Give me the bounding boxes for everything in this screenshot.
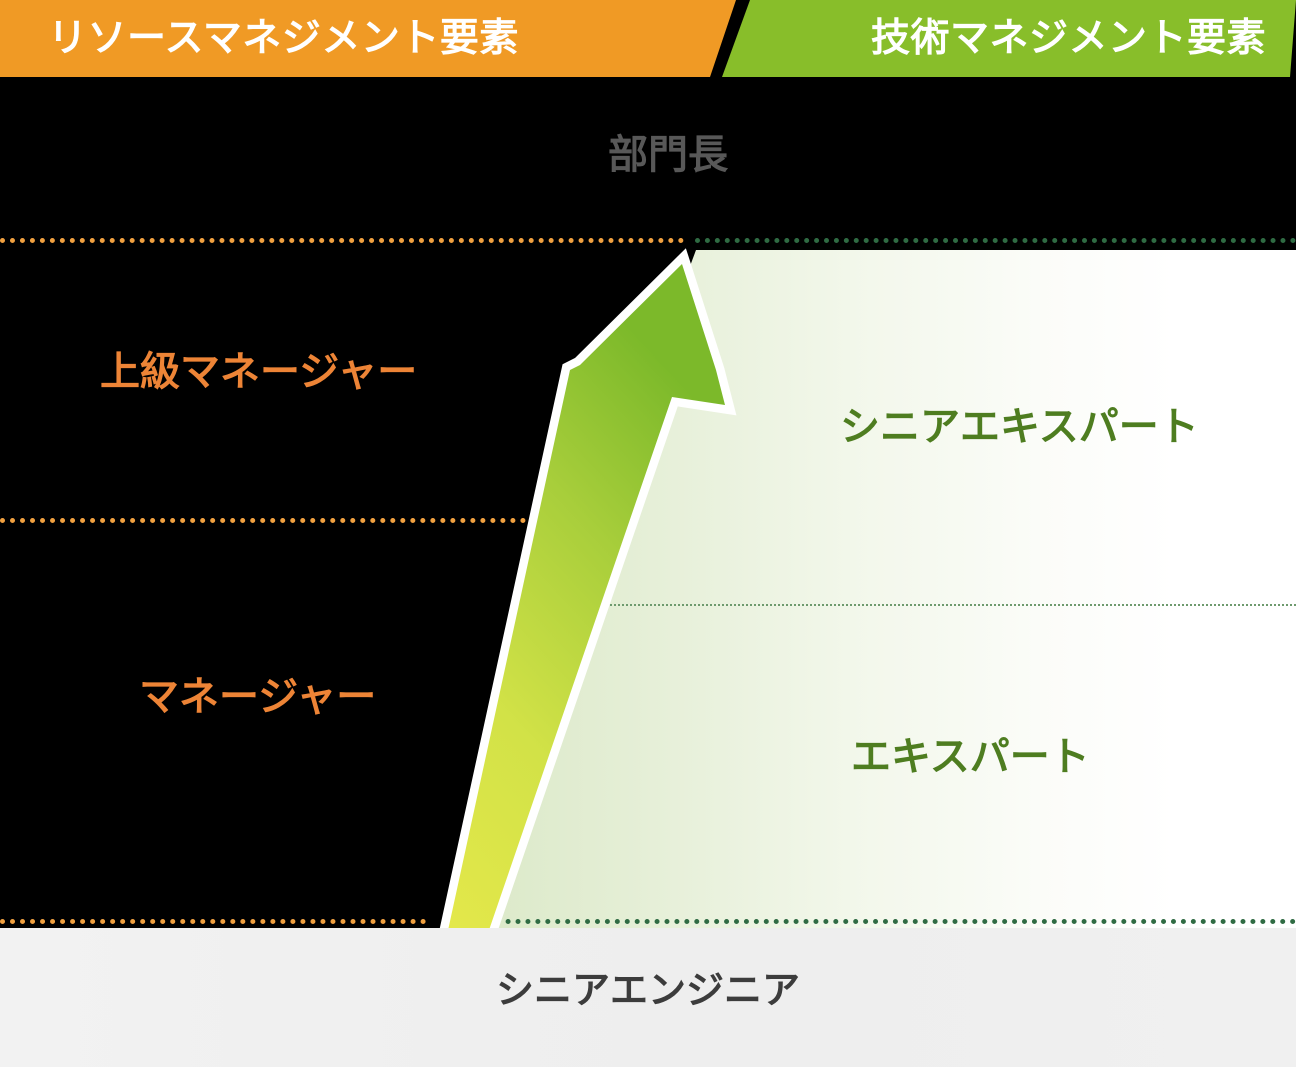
banner-technical-management-label: 技術マネジメント要素 [871,19,1266,58]
divider-resource-middle [0,518,566,523]
label-bucho: 部門長 [0,135,1296,175]
label-senior-engineer: シニアエンジニア [0,972,1296,1010]
divider-technical-top [695,238,1296,243]
divider-resource-top [0,238,684,243]
banner-resource-management-label: リソースマネジメント要素 [48,19,519,58]
technical-track-panel [435,250,1296,928]
label-manager: マネージャー [139,677,376,717]
banner-resource-management: リソースマネジメント要素 [0,0,736,77]
divider-technical-bottom [446,919,1296,924]
divider-technical-middle [583,604,1296,606]
banner-technical-management: 技術マネジメント要素 [722,0,1296,77]
career-path-diagram: リソースマネジメント要素 技術マネジメント要素 部門長 上級マネージャー マネー… [0,0,1296,1067]
label-expert: エキスパート [851,737,1090,777]
label-senior-expert: シニアエキスパート [840,407,1199,447]
label-senior-manager: 上級マネージャー [100,352,417,392]
divider-resource-bottom [0,919,426,924]
